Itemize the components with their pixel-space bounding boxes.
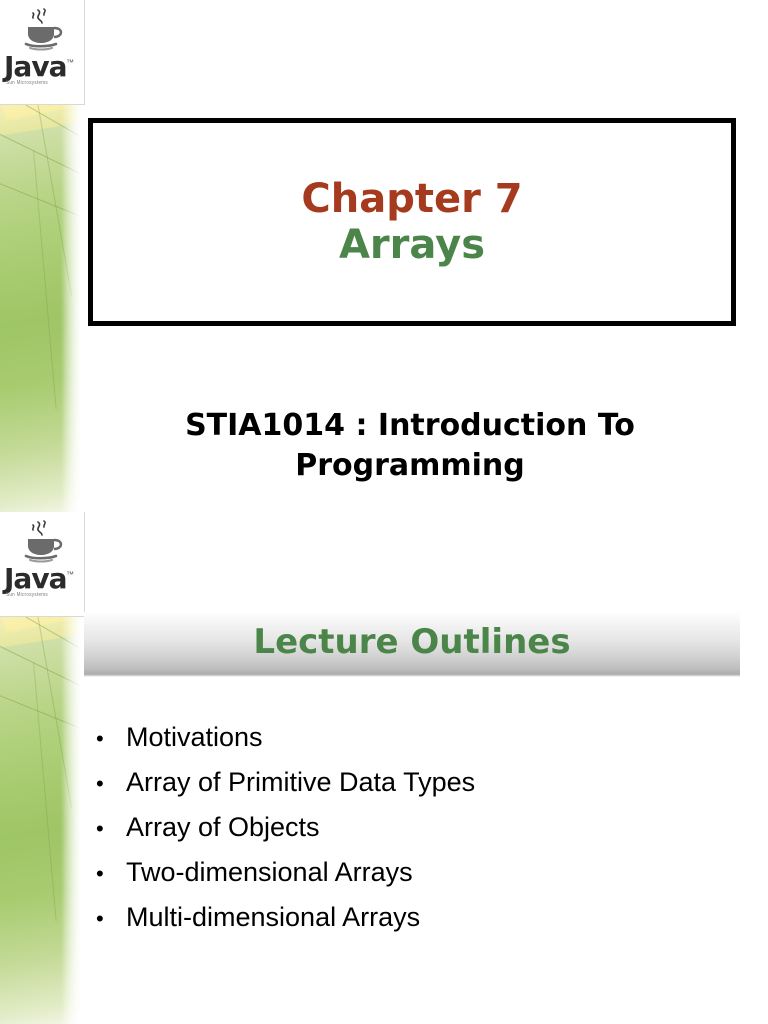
list-item-label: Array of Objects [126,812,736,843]
bullet-icon: • [96,728,126,750]
list-item-label: Two-dimensional Arrays [126,857,736,888]
java-logo: Java ™ Sun Microsystems [0,512,85,617]
java-logo: Java ™ Sun Microsystems [0,0,85,105]
presentation-page: Java ™ Sun Microsystems Chapter 7 Arrays… [0,0,768,1024]
course-title: STIA1014 : Introduction To Programming [90,406,730,485]
outline-banner-shadow [84,674,740,677]
java-logo-subtext: Sun Microsystems [6,80,48,86]
trademark-symbol: ™ [66,570,74,579]
list-item: • Two-dimensional Arrays [96,857,736,888]
chapter-title: Chapter 7 [301,176,522,222]
list-item-label: Multi-dimensional Arrays [126,902,736,933]
bullet-icon: • [96,773,126,795]
outline-heading: Lecture Outlines [84,622,740,662]
bullet-icon: • [96,908,126,930]
list-item: • Array of Primitive Data Types [96,767,736,798]
trademark-symbol: ™ [66,58,74,67]
title-box: Chapter 7 Arrays [88,118,736,326]
list-item: • Motivations [96,722,736,753]
list-item: • Multi-dimensional Arrays [96,902,736,933]
bullet-icon: • [96,818,126,840]
java-cup-icon [18,516,66,564]
list-item-label: Motivations [126,722,736,753]
slide-outline: Java ™ Sun Microsystems Lecture Outlines… [0,512,768,1024]
java-wordmark: Java [4,50,66,83]
slide-title: Java ™ Sun Microsystems Chapter 7 Arrays… [0,0,768,512]
chapter-subtitle: Arrays [339,222,485,268]
java-logo-subtext: Sun Microsystems [6,592,48,598]
java-cup-icon [18,4,66,52]
list-item: • Array of Objects [96,812,736,843]
java-wordmark: Java [4,562,66,595]
bullet-icon: • [96,863,126,885]
outline-bullet-list: • Motivations • Array of Primitive Data … [96,722,736,947]
list-item-label: Array of Primitive Data Types [126,767,736,798]
